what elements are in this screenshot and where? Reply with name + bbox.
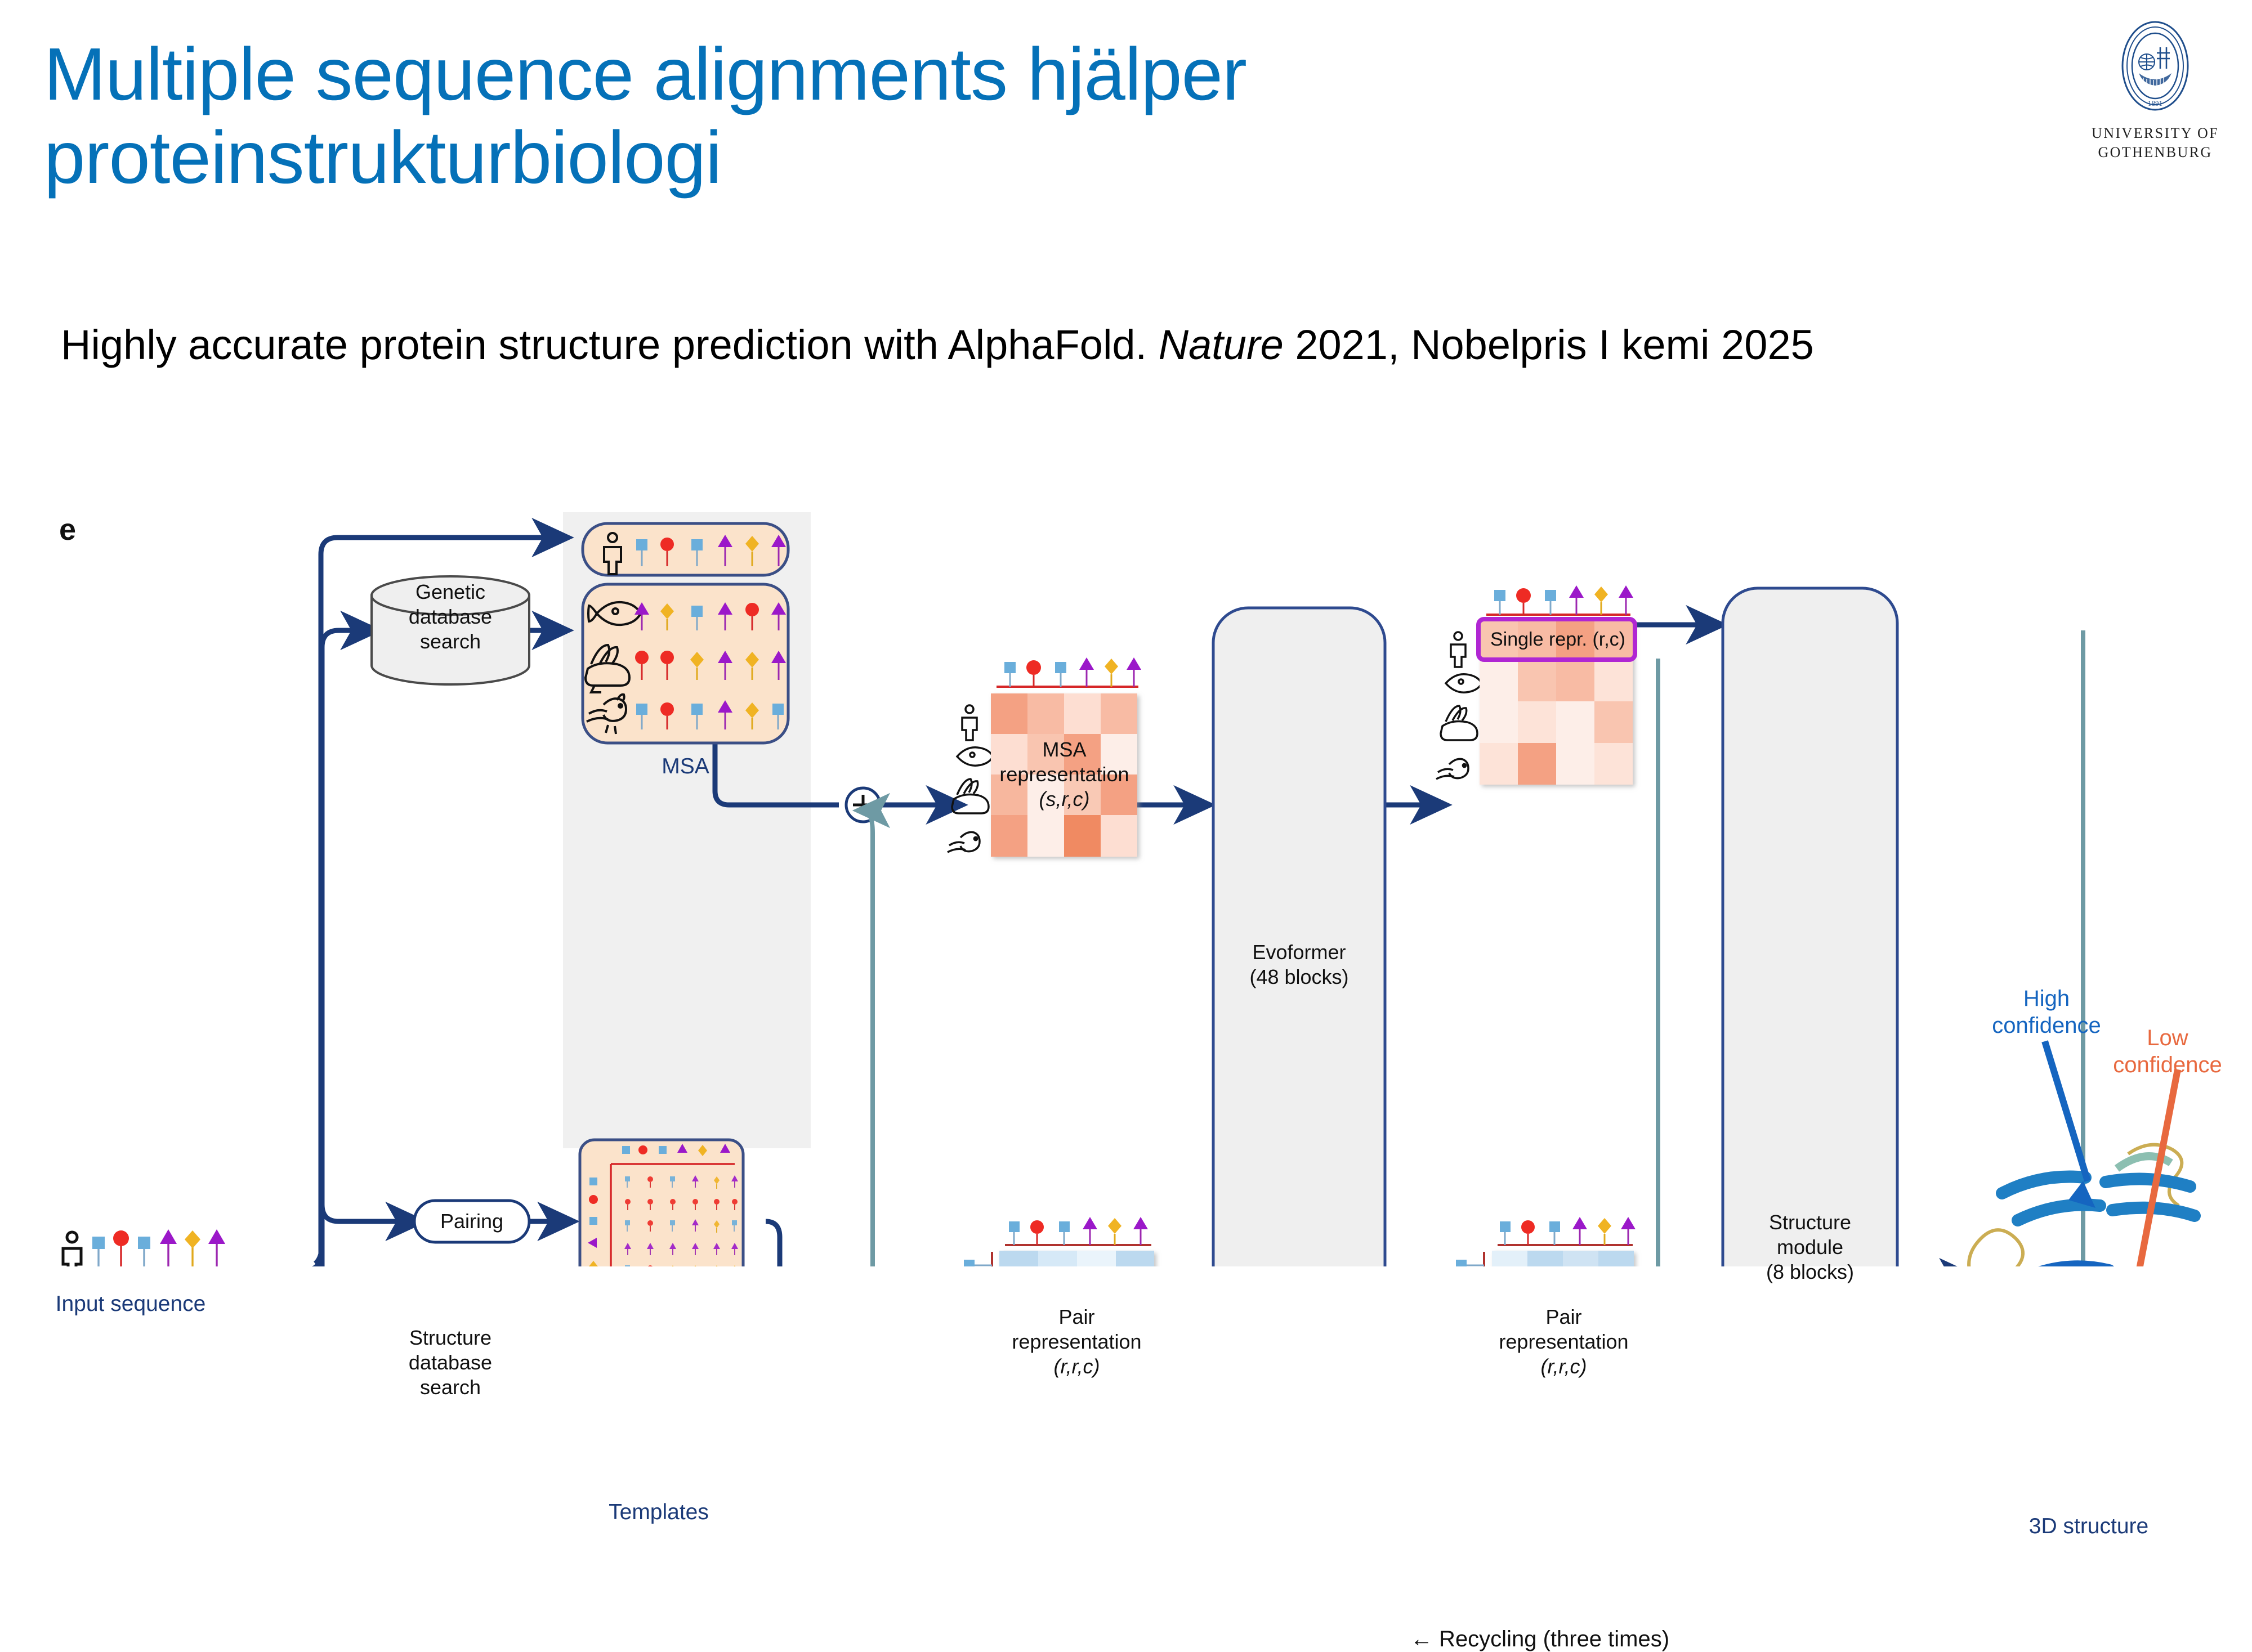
structure-db-line-3: search (372, 1375, 529, 1400)
pair-repr2-line-3: (r,r,c) (1486, 1354, 1641, 1379)
alphafold-pipeline-figure: e Input sequence Genetic database search… (0, 462, 2252, 1266)
pair-representation-label-1: Pair representation (r,r,c) (997, 1305, 1157, 1379)
high-conf-line-1: High (1954, 985, 2139, 1012)
university-seal-icon: 1891 (2113, 12, 2197, 119)
evoformer-label: Evoformer (48 blocks) (1213, 940, 1385, 990)
structure-db-line-2: database (372, 1350, 529, 1375)
msa-panel (583, 523, 788, 743)
add-node-msa (846, 788, 880, 822)
pair-representation-label-2: Pair representation (r,r,c) (1486, 1305, 1641, 1379)
pairing-grid (580, 1140, 743, 1266)
single-representation-label: Single repr. (r,c) (1484, 628, 1632, 651)
templates-label: Templates (574, 1500, 743, 1525)
pairing-label: Pairing (414, 1209, 529, 1234)
genetic-db-line-3: search (372, 629, 529, 654)
low-confidence-label: Low confidence (2083, 1024, 2252, 1078)
evoformer-line-1: Evoformer (1213, 940, 1385, 965)
panel-letter-e: e (59, 512, 76, 547)
structure-database-label: Structure database search (372, 1326, 529, 1400)
msa-repr-line-3: (s,r,c) (984, 787, 1145, 812)
structure-db-line-1: Structure (372, 1326, 529, 1350)
subtitle-journal-name: Nature (1159, 321, 1284, 368)
line-templates-to-plus2 (766, 1221, 850, 1266)
recycle-up-to-plus1 (863, 811, 951, 1266)
genetic-db-line-1: Genetic (372, 580, 529, 605)
seal-year: 1891 (2148, 99, 2162, 108)
page-title: Multiple sequence alignments hjälper pro… (44, 33, 1677, 199)
subtitle-part-2: 2021, Nobelpris I kemi 2025 (1284, 321, 1814, 368)
university-logo: 1891 UNIVERSITY OF GOTHENBURG (2088, 12, 2223, 162)
structure-module-line-1: Structure (1723, 1210, 1897, 1235)
pair-repr1-line-1: Pair (997, 1305, 1157, 1329)
logo-line-1: UNIVERSITY OF (2088, 124, 2223, 143)
structure-3d-label: 3D structure (1970, 1514, 2207, 1539)
pair-repr1-line-3: (r,r,c) (997, 1354, 1157, 1379)
genetic-database-label: Genetic database search (372, 580, 529, 654)
logo-line-2: GOTHENBURG (2088, 143, 2223, 162)
subtitle-part-1: Highly accurate protein structure predic… (61, 321, 1159, 368)
msa-representation-label: MSA representation (s,r,c) (984, 737, 1145, 812)
pair-representation-block-1 (960, 1217, 1154, 1266)
logo-wordmark: UNIVERSITY OF GOTHENBURG (2088, 124, 2223, 162)
evoformer-block (1213, 608, 1385, 1266)
pair-representation-block-2 (1453, 1217, 1636, 1266)
low-conf-line-1: Low (2083, 1024, 2252, 1051)
page-subtitle: Highly accurate protein structure predic… (61, 321, 2088, 369)
single-representation-block (1436, 585, 1635, 785)
genetic-db-line-2: database (372, 605, 529, 629)
pair-repr1-line-2: representation (997, 1329, 1157, 1354)
low-conf-line-2: confidence (2083, 1051, 2252, 1078)
evoformer-line-2: (48 blocks) (1213, 965, 1385, 990)
structure-module-block (1723, 588, 1897, 1266)
input-sequence-glyph (63, 1229, 236, 1266)
structure-module-line-2: module (1723, 1235, 1897, 1260)
msa-label: MSA (583, 754, 788, 779)
structure-module-label: Structure module (8 blocks) (1723, 1210, 1897, 1284)
msa-repr-line-2: representation (984, 762, 1145, 787)
pair-repr2-line-2: representation (1486, 1329, 1641, 1354)
figure-canvas (0, 462, 2252, 1266)
structure-module-line-3: (8 blocks) (1723, 1260, 1897, 1284)
recycling-label: ← Recycling (three times) (951, 1627, 2128, 1652)
single-repr-organism-column (1436, 632, 1482, 779)
msa-repr-line-1: MSA (984, 737, 1145, 762)
pair-repr2-line-1: Pair (1486, 1305, 1641, 1329)
input-sequence-label: Input sequence (18, 1292, 243, 1317)
